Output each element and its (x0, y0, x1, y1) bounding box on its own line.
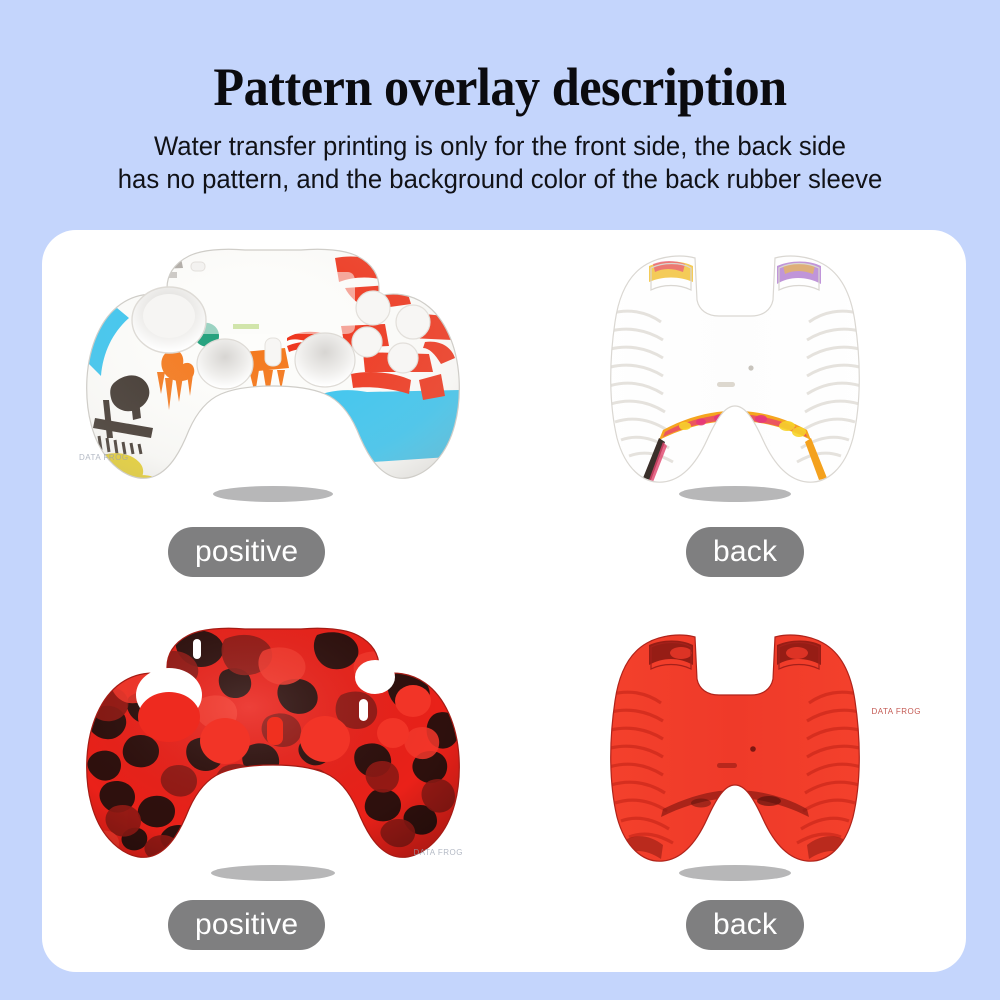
subtitle-line-1: Water transfer printing is only for the … (64, 130, 937, 163)
product-cell-graffiti-front: DATA FROG positive (42, 238, 504, 609)
controller-camo-back-image: DATA FROG (535, 621, 935, 891)
controller-graffiti-front-image: DATA FROG (73, 242, 473, 512)
camo-front-stage: DATA FROG positive (42, 609, 504, 972)
controller-camo-front-image: DATA FROG (73, 621, 473, 891)
graffiti-back-svg (535, 242, 935, 512)
graffiti-front-stage: DATA FROG positive (42, 238, 504, 609)
label-pill-camo-back: back (686, 900, 804, 950)
graffiti-front-svg (73, 242, 473, 512)
header: Pattern overlay description Water transf… (0, 0, 1000, 228)
graffiti-back-stage: back (504, 238, 966, 609)
product-cell-graffiti-back: back (504, 238, 966, 609)
camo-back-stage: DATA FROG back (504, 609, 966, 972)
label-pill-graffiti-front: positive (168, 527, 325, 577)
product-cell-camo-back: DATA FROG back (504, 609, 966, 972)
camo-back-svg (535, 621, 935, 891)
label-pill-graffiti-back: back (686, 527, 804, 577)
product-cell-camo-front: DATA FROG positive (42, 609, 504, 972)
product-image-grid: DATA FROG positive (42, 230, 966, 972)
subtitle-line-2: has no pattern, and the background color… (64, 163, 937, 196)
product-image-card: DATA FROG positive (42, 230, 966, 972)
page-title: Pattern overlay description (35, 58, 965, 116)
subtitle: Water transfer printing is only for the … (64, 130, 937, 196)
controller-graffiti-back-image (535, 242, 935, 512)
label-pill-camo-front: positive (168, 900, 325, 950)
camo-front-svg (73, 621, 473, 891)
